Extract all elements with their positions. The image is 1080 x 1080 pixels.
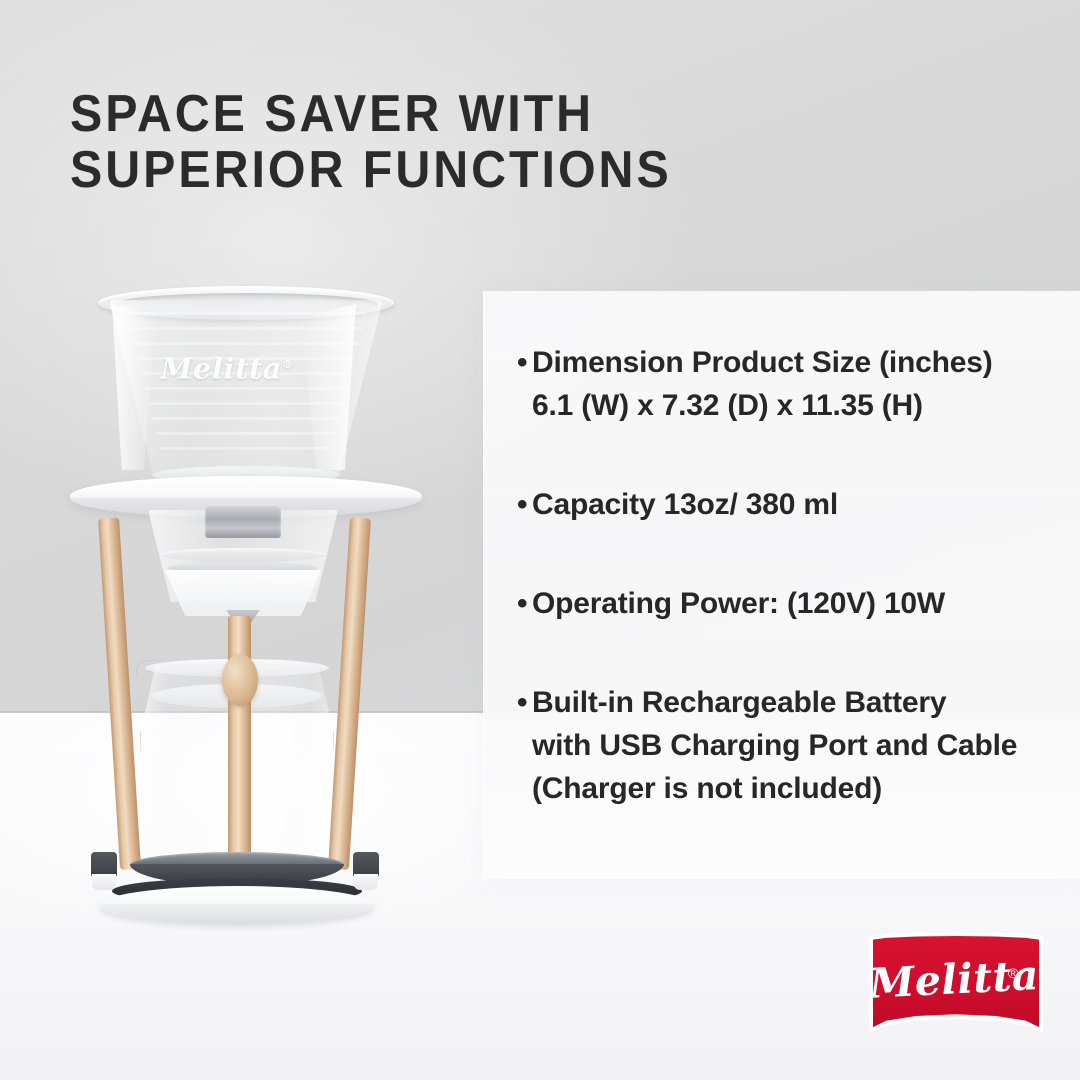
registered-mark-icon: ®: [1008, 965, 1018, 981]
dripper-wordmark-text: Melitta: [160, 352, 282, 386]
list-item: • Capacity 13oz/ 380 ml: [517, 483, 1057, 526]
leg-tip-right: [354, 874, 378, 890]
bullet-dot-icon: •: [517, 483, 532, 526]
base-white-edge: [100, 904, 374, 924]
product-photo: Melitta®: [0, 260, 470, 940]
center-post-knob: [222, 654, 258, 706]
wooden-leg-right: [328, 517, 371, 870]
list-item: • Operating Power: (120V) 10W: [517, 582, 1057, 625]
wooden-leg-left: [98, 517, 141, 870]
spec-dimension-text: Dimension Product Size (inches) 6.1 (W) …: [532, 341, 1057, 427]
list-item: • Built-in Rechargeable Battery with USB…: [517, 681, 1057, 810]
filter-holder-ring-upper: [160, 548, 326, 562]
spec-bullet-list: • Dimension Product Size (inches) 6.1 (W…: [517, 341, 1057, 810]
spec-battery-text: Built-in Rechargeable Battery with USB C…: [532, 681, 1057, 810]
dripper-registered-icon: ®: [282, 358, 294, 371]
dripper-wordmark: Melitta®: [152, 348, 302, 382]
spec-power-text: Operating Power: (120V) 10W: [532, 582, 1057, 625]
page-title: SPACE SAVER WITH SUPERIOR FUNCTIONS: [70, 86, 833, 198]
bullet-dot-icon: •: [517, 341, 532, 427]
logo-wordmark: Melitta: [868, 954, 1020, 1006]
filter-holder-cup: [158, 570, 328, 616]
bullet-dot-icon: •: [517, 582, 532, 625]
spec-capacity-text: Capacity 13oz/ 380 ml: [532, 483, 1057, 526]
melitta-logo: Melitta ®: [869, 932, 1043, 1032]
bullet-dot-icon: •: [517, 681, 532, 810]
filter-holder-valve: [205, 504, 281, 538]
leg-tip-left: [92, 874, 116, 890]
spec-panel: • Dimension Product Size (inches) 6.1 (W…: [483, 291, 1080, 879]
list-item: • Dimension Product Size (inches) 6.1 (W…: [517, 341, 1057, 427]
